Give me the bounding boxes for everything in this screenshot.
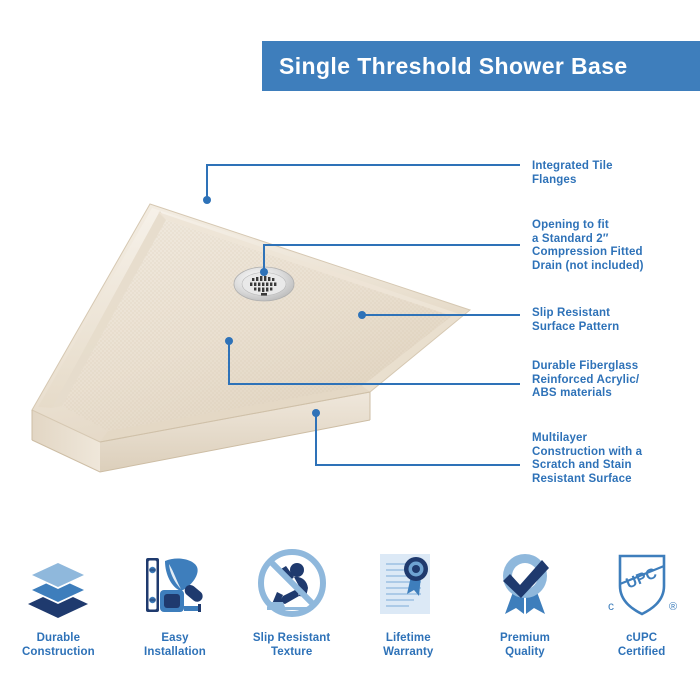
callout-label-slip-resistant-surface: Slip Resistant Surface Pattern — [532, 307, 619, 334]
feature-cupc-certified: UPC c ® cUPC Certified — [584, 540, 700, 659]
feature-label: Slip Resistant Texture — [253, 632, 330, 659]
feature-label: Easy Installation — [144, 632, 206, 659]
page-title: Single Threshold Shower Base — [262, 53, 628, 80]
feature-slip-resistant: Slip Resistant Texture — [234, 540, 350, 659]
title-banner: Single Threshold Shower Base — [262, 41, 700, 91]
product-illustration — [0, 120, 520, 520]
feature-label: Durable Construction — [22, 632, 95, 659]
callout-label-durable-fiberglass: Durable Fiberglass Reinforced Acrylic/ A… — [532, 360, 639, 401]
feature-premium-quality: Premium Quality — [467, 540, 583, 659]
upc-prefix-c: c — [608, 599, 614, 613]
upc-shield-icon: UPC c ® — [600, 540, 684, 626]
callout-label-multilayer-construction: Multilayer Construction with a Scratch a… — [532, 432, 642, 486]
layers-icon — [19, 540, 97, 626]
callout-label-drain-opening: Opening to fit a Standard 2″ Compression… — [532, 219, 644, 273]
shower-base-drawing — [0, 120, 520, 520]
certificate-icon — [369, 540, 447, 626]
feature-lifetime-warranty: Lifetime Warranty — [350, 540, 466, 659]
infographic-page: Single Threshold Shower Base — [0, 0, 700, 700]
tools-icon — [136, 540, 214, 626]
feature-durable-construction: Durable Construction — [0, 540, 116, 659]
feature-label: cUPC Certified — [618, 632, 666, 659]
upc-registered-mark: ® — [669, 601, 677, 613]
feature-label: Lifetime Warranty — [383, 632, 433, 659]
award-check-icon — [486, 540, 564, 626]
callout-label-integrated-tile-flanges: Integrated Tile Flanges — [532, 160, 613, 187]
feature-easy-installation: Easy Installation — [117, 540, 233, 659]
feature-label: Premium Quality — [500, 632, 550, 659]
no-slip-icon — [253, 540, 331, 626]
feature-row: Durable Construction — [0, 540, 700, 690]
